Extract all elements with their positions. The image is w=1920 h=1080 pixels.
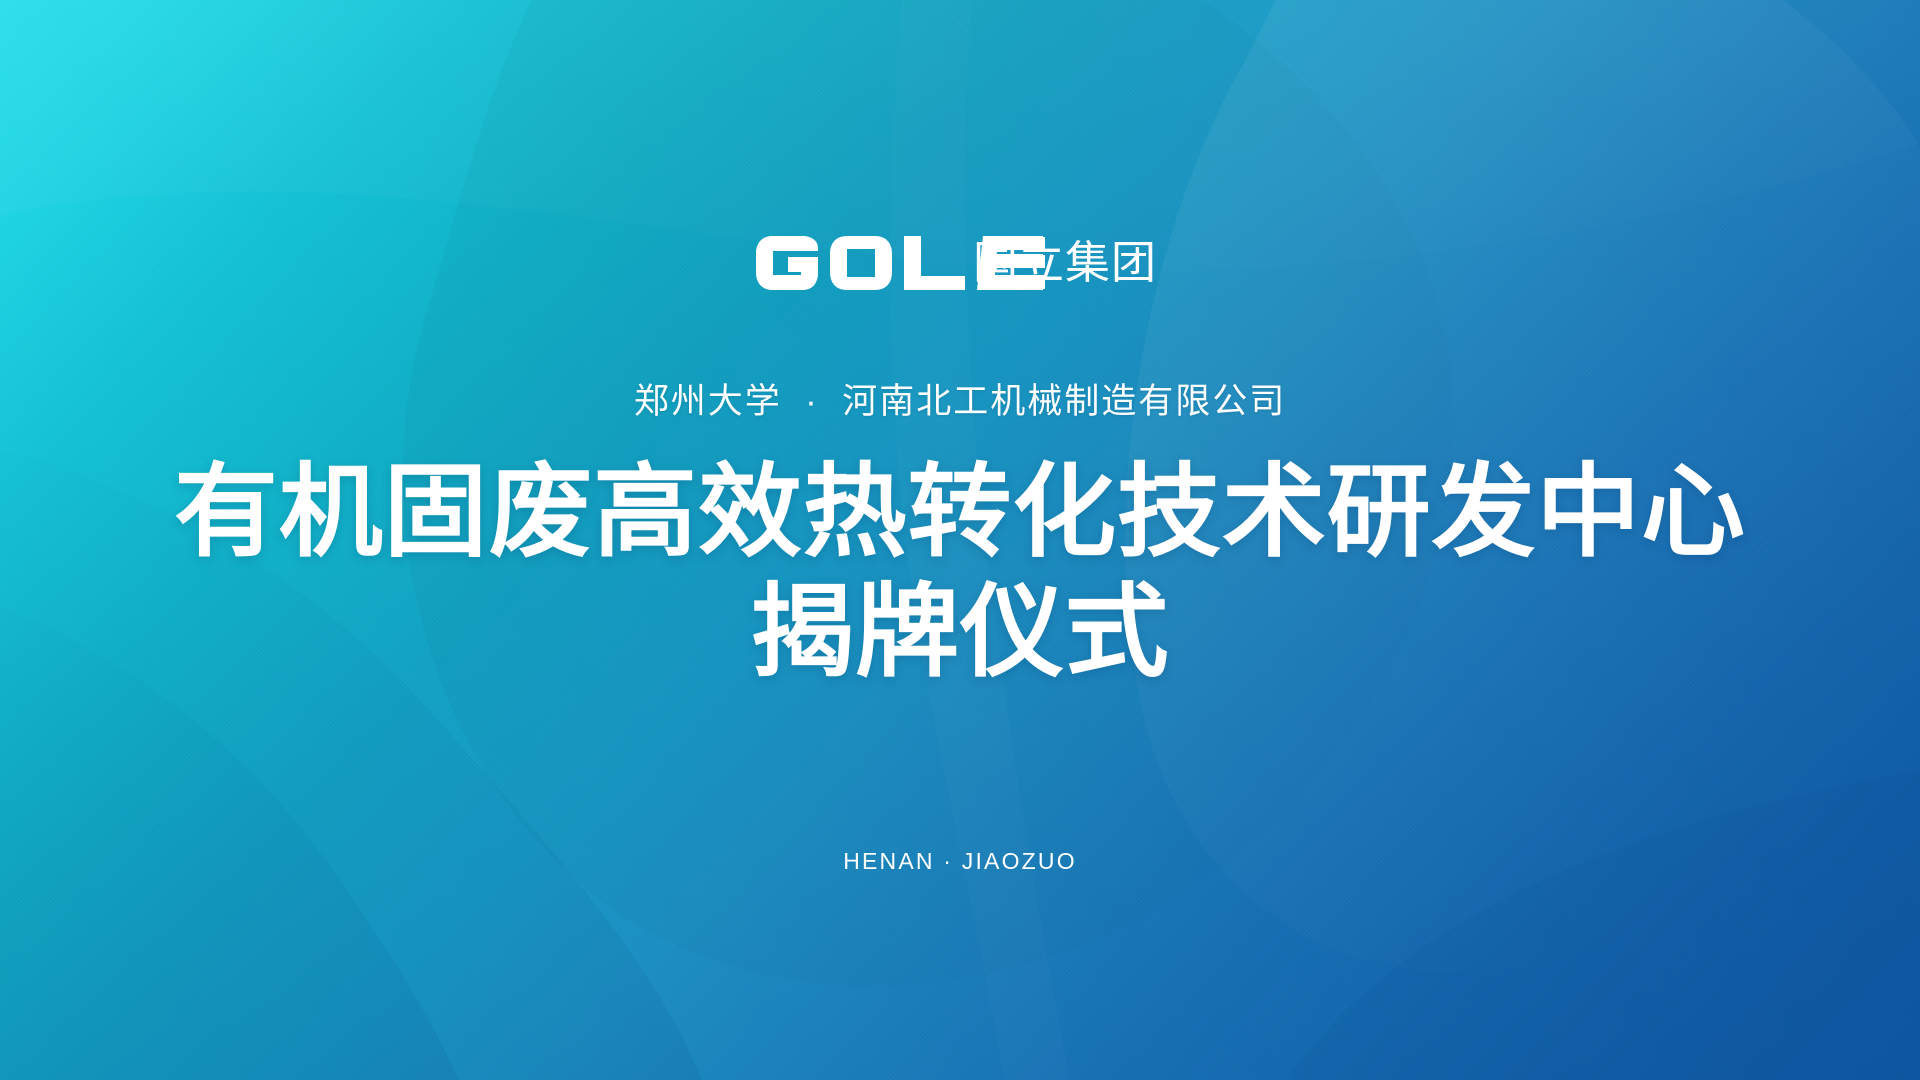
svg-text:国立集团: 国立集团: [973, 237, 1157, 288]
slide-content: 国立集团 郑州大学 · 河南北工机械制造有限公司 有机固废高效热转化技术研发中心…: [0, 0, 1920, 1080]
location-footer: HENAN · JIAOZUO: [0, 848, 1920, 875]
main-title: 有机固废高效热转化技术研发中心 揭牌仪式: [0, 452, 1920, 692]
organizers-subtitle: 郑州大学 · 河南北工机械制造有限公司: [0, 380, 1920, 424]
main-title-line-1: 有机固废高效热转化技术研发中心: [0, 452, 1920, 572]
brand-logo: 国立集团: [0, 233, 1920, 293]
gole-wordmark-logo: 国立集团: [755, 234, 1165, 292]
slide-canvas: 国立集团 郑州大学 · 河南北工机械制造有限公司 有机固废高效热转化技术研发中心…: [0, 0, 1920, 1080]
main-title-line-2: 揭牌仪式: [0, 572, 1920, 692]
